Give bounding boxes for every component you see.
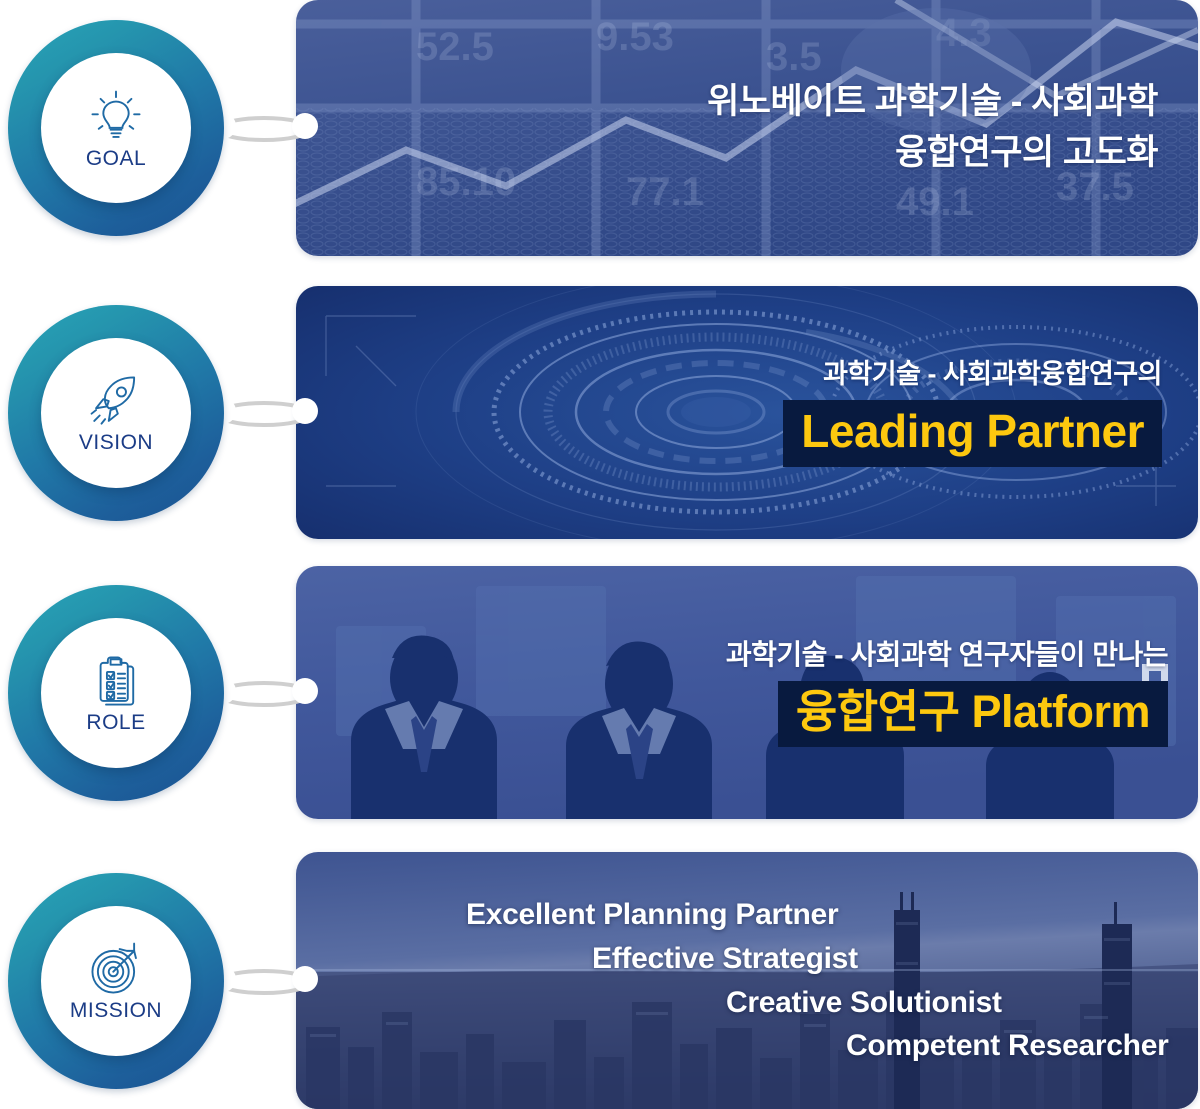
goal-line-2: 융합연구의 고도화 [895,131,1158,176]
badge-mission-label: MISSION [70,1000,162,1021]
role-highlight-text: 융합연구 Platform [796,687,1150,737]
badge-vision[interactable]: VISION [8,305,224,521]
panel-role-content: 과학기술 - 사회과학 연구자들이 만나는 융합연구 Platform [296,566,1198,819]
badge-vision-label: VISION [79,432,153,453]
badge-mission-inner: MISSION [41,906,191,1056]
badge-goal-inner: GOAL [41,53,191,203]
target-arrow-icon [87,940,145,998]
badge-role[interactable]: ROLE [8,585,224,801]
badge-role-label: ROLE [86,712,145,733]
panel-mission[interactable]: Excellent Planning Partner Effective Str… [296,852,1198,1109]
row-vision: 과학기술 - 사회과학융합연구의 Leading Partner VISION [0,286,1200,539]
panel-role[interactable]: 과학기술 - 사회과학 연구자들이 만나는 융합연구 Platform [296,566,1198,819]
role-highlight-box: 융합연구 Platform [778,681,1168,747]
panel-vision-content: 과학기술 - 사회과학융합연구의 Leading Partner [296,286,1198,539]
vision-highlight-text: Leading Partner [801,406,1144,458]
panel-mission-content: Excellent Planning Partner Effective Str… [296,852,1198,1109]
panel-vision[interactable]: 과학기술 - 사회과학융합연구의 Leading Partner [296,286,1198,539]
vision-line-1: 과학기술 - 사회과학융합연구의 [823,358,1162,390]
panel-goal-content: 위노베이트 과학기술 - 사회과학 융합연구의 고도화 [296,0,1198,256]
row-goal: 52.59.53 3.54.3 85.1077.1 49.137.5 위노베이트… [0,0,1200,256]
rocket-icon [87,372,145,430]
row-mission: Excellent Planning Partner Effective Str… [0,852,1200,1109]
badge-vision-inner: VISION [41,338,191,488]
vision-highlight-box: Leading Partner [783,400,1162,468]
badge-goal[interactable]: GOAL [8,20,224,236]
goal-line-1: 위노베이트 과학기술 - 사회과학 [707,80,1158,125]
badge-role-inner: ROLE [41,618,191,768]
role-line-1: 과학기술 - 사회과학 연구자들이 만나는 [726,638,1168,672]
panel-goal[interactable]: 52.59.53 3.54.3 85.1077.1 49.137.5 위노베이트… [296,0,1198,256]
infographic-stage: 52.59.53 3.54.3 85.1077.1 49.137.5 위노베이트… [0,0,1200,1109]
badge-mission[interactable]: MISSION [8,873,224,1089]
lightbulb-icon [87,88,145,146]
mission-line-2: Effective Strategist [592,939,858,979]
mission-line-4: Competent Researcher [846,1026,1168,1066]
badge-goal-label: GOAL [86,148,146,169]
mission-line-1: Excellent Planning Partner [466,895,838,935]
mission-line-3: Creative Solutionist [726,983,1002,1023]
clipboard-checklist-icon [87,652,145,710]
row-role: 과학기술 - 사회과학 연구자들이 만나는 융합연구 Platform [0,566,1200,819]
